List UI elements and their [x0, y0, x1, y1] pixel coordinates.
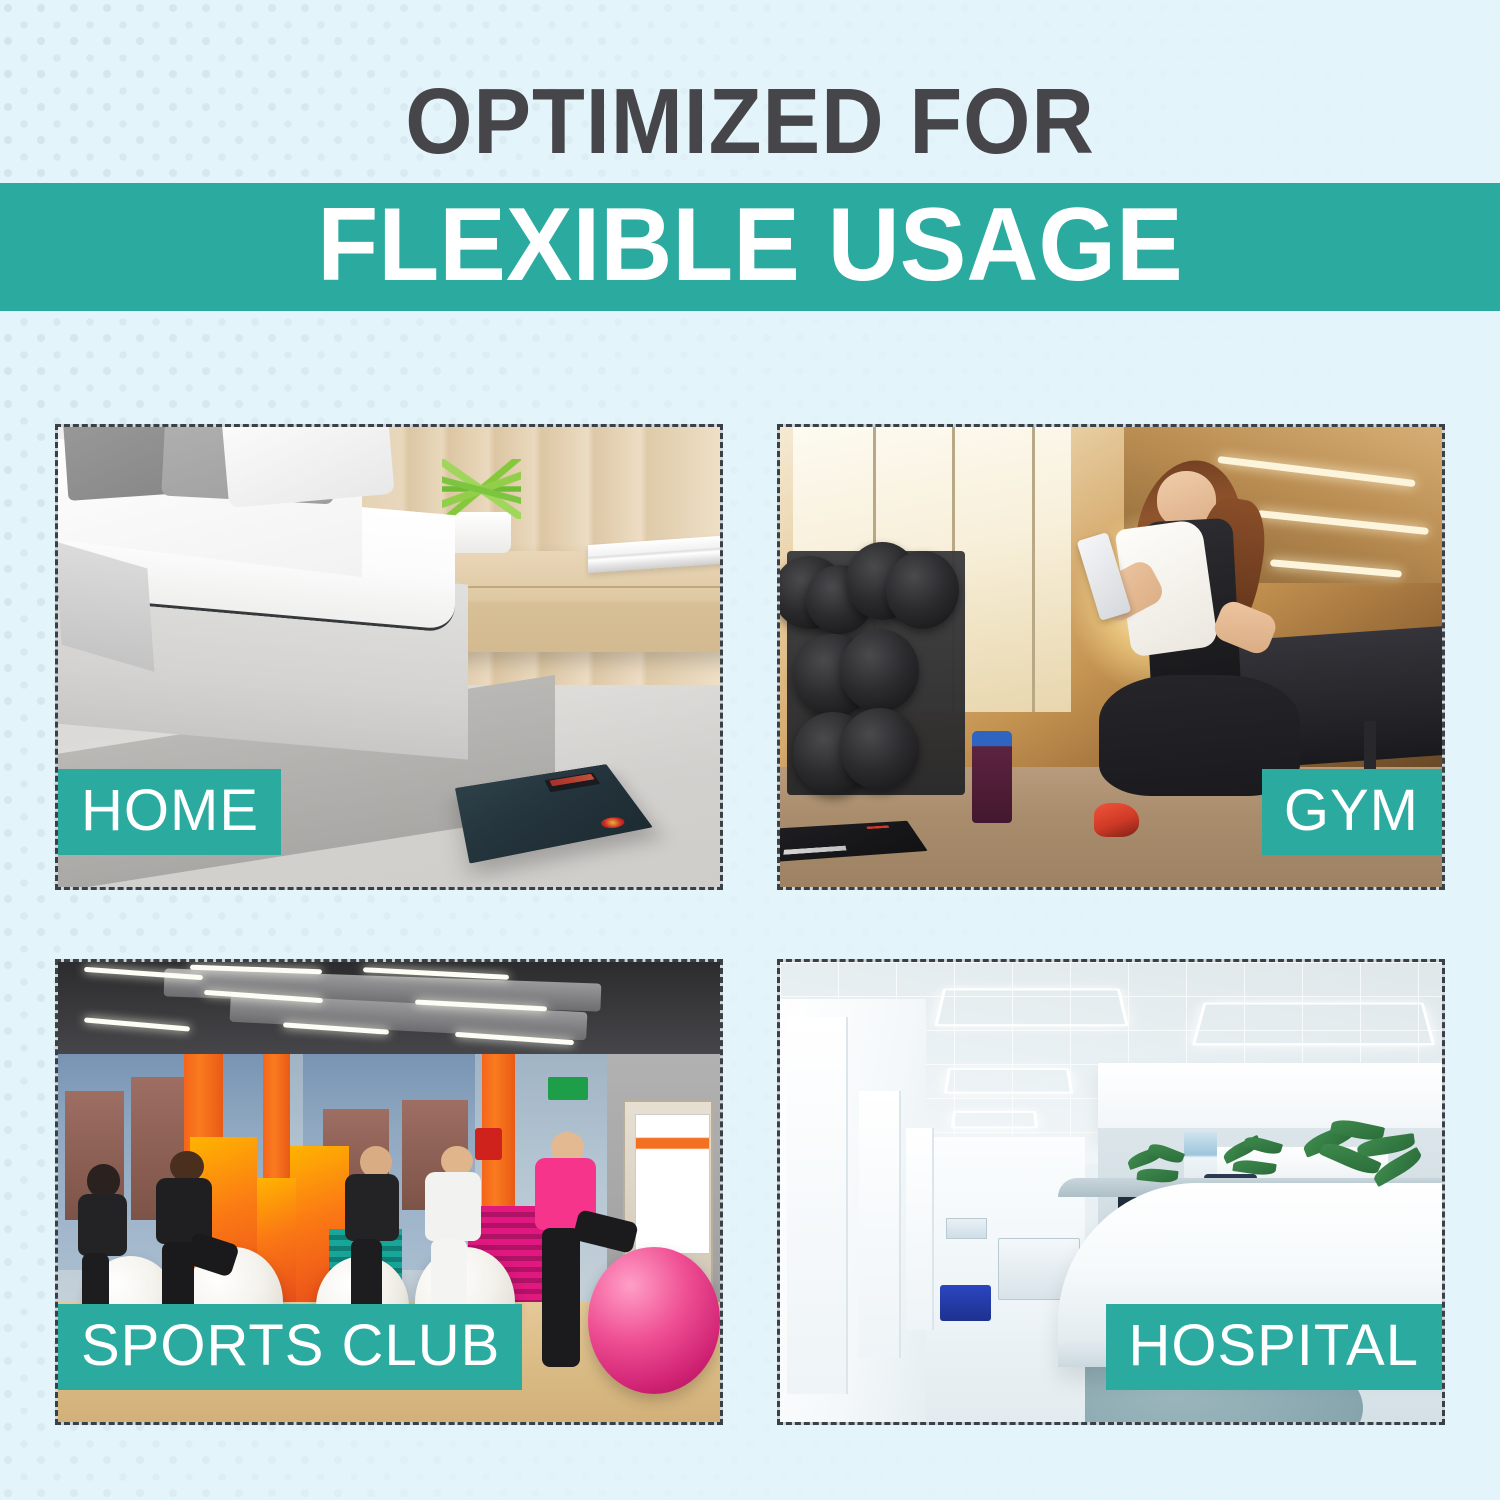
cart-monitor: [946, 1218, 988, 1239]
badge-hospital: HOSPITAL: [1106, 1304, 1445, 1390]
gym-window-mullion: [1032, 427, 1035, 712]
ceiling-light-panel: [943, 1068, 1073, 1093]
pillow-white: [219, 427, 394, 508]
infographic-stage: OPTIMIZED FOR FLEXIBLE USAGE: [0, 0, 1500, 1500]
potted-plant-small: [1124, 1146, 1197, 1206]
person-torso: [78, 1194, 127, 1257]
potted-plant: [1296, 1118, 1428, 1210]
ceiling-light-panel: [951, 1111, 1038, 1128]
badge-sports-club: SPORTS CLUB: [55, 1304, 522, 1390]
weight-plate: [840, 629, 919, 712]
plant-leaf: [1243, 1134, 1283, 1157]
plant-leaf: [1137, 1167, 1179, 1184]
person-leg-raised: [573, 1209, 639, 1254]
person-exercising: [521, 1132, 634, 1371]
ceiling-light-panel: [1192, 1002, 1435, 1044]
corridor-door: [787, 1017, 849, 1394]
person-head: [170, 1151, 204, 1182]
panel-home[interactable]: HOME: [55, 424, 723, 890]
badge-gym: GYM: [1262, 769, 1445, 855]
person-torso: [425, 1172, 481, 1241]
usage-panel-grid: HOME: [55, 424, 1445, 1425]
ceiling-light-panel: [934, 988, 1128, 1026]
panel-hospital[interactable]: HOSPITAL: [777, 959, 1445, 1425]
person-head: [360, 1146, 392, 1178]
person-torso: [345, 1174, 399, 1242]
person-head: [87, 1164, 120, 1197]
plant-leaf: [1232, 1158, 1276, 1177]
weight-plate: [840, 708, 919, 791]
potted-plant: [442, 459, 521, 519]
corridor-door: [906, 1128, 934, 1330]
scale-brand-seal: [599, 816, 627, 830]
person-leg: [542, 1228, 580, 1367]
notice-board: [635, 1114, 710, 1254]
potted-plant-small: [1217, 1137, 1296, 1197]
weight-plate: [886, 551, 959, 629]
headline-primary: OPTIMIZED FOR: [53, 66, 1448, 176]
badge-home: HOME: [55, 769, 281, 855]
scale-display-digits: [866, 825, 890, 829]
headline-secondary: FLEXIBLE USAGE: [30, 183, 1470, 311]
corridor-door: [859, 1091, 901, 1358]
water-bottle: [972, 731, 1012, 823]
panel-sports-club[interactable]: SPORTS CLUB: [55, 959, 723, 1425]
scale-brand-print: [784, 845, 847, 854]
medical-cart: [946, 1201, 986, 1321]
exit-sign-icon: [548, 1077, 588, 1100]
headline-banner: FLEXIBLE USAGE: [0, 183, 1500, 311]
running-shoe: [1094, 803, 1139, 837]
panel-gym[interactable]: GYM: [777, 424, 1445, 890]
cart-base: [940, 1285, 992, 1321]
